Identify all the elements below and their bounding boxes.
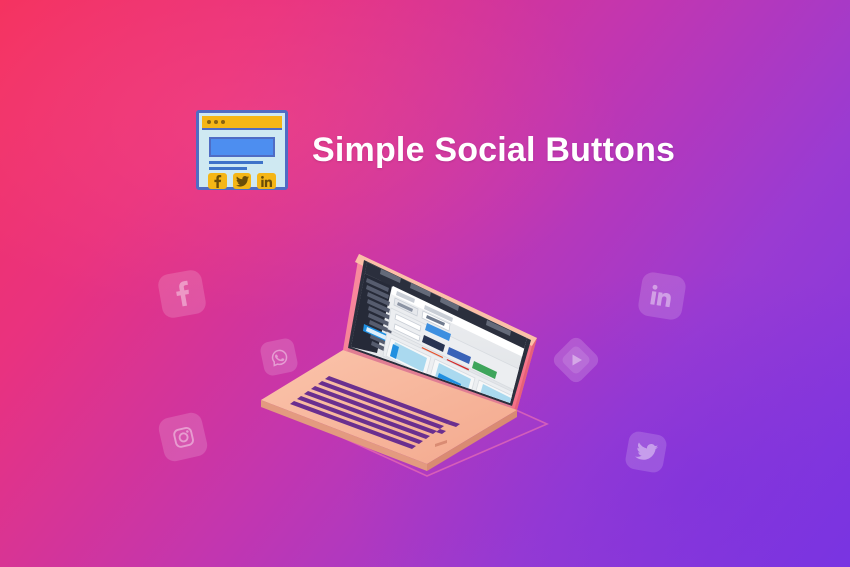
window-dot-icon	[221, 120, 225, 124]
linkedin-icon	[257, 173, 276, 189]
promo-banner: Simple Social Buttons	[0, 0, 850, 567]
window-dot-icon	[207, 120, 211, 124]
logo-browser-titlebar	[202, 116, 282, 130]
floating-linkedin-icon	[637, 271, 687, 321]
laptop-illustration	[255, 228, 595, 528]
facebook-icon	[208, 173, 227, 189]
browser-window-logo-mark	[196, 110, 288, 190]
brand-logo: Simple Social Buttons	[196, 110, 675, 190]
twitter-icon	[233, 173, 252, 189]
floating-facebook-icon	[157, 269, 208, 320]
logo-text-line	[209, 167, 247, 170]
floating-instagram-icon	[157, 411, 210, 464]
floating-twitter-icon	[624, 430, 668, 474]
page-title: Simple Social Buttons	[312, 131, 675, 170]
logo-text-line	[209, 161, 263, 164]
logo-social-button-row	[208, 173, 276, 189]
logo-hero-block	[209, 137, 275, 157]
window-dot-icon	[214, 120, 218, 124]
